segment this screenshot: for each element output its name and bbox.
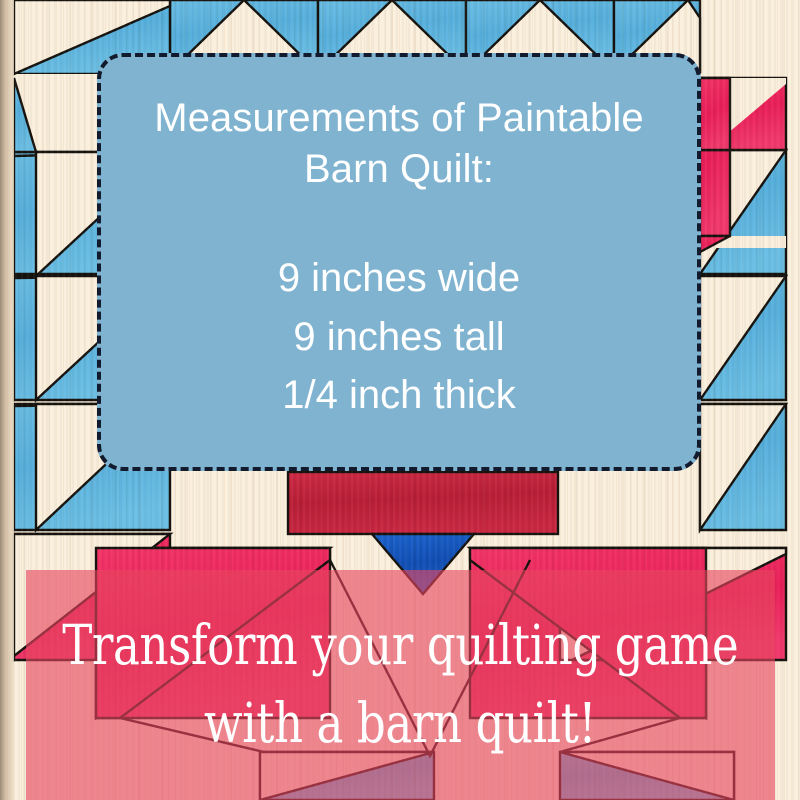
board-edge xyxy=(0,0,14,800)
measurement-height: 9 inches tall xyxy=(293,310,504,364)
promo-line-2: with a barn quilt! xyxy=(204,684,596,762)
measurements-panel: Measurements of Paintable Barn Quilt: 9 … xyxy=(97,53,701,471)
promo-banner: Transform your quilting game with a barn… xyxy=(26,570,775,800)
measurements-list: 9 inches wide 9 inches tall 1/4 inch thi… xyxy=(278,251,520,422)
measurement-thickness: 1/4 inch thick xyxy=(282,368,515,422)
promo-line-1: Transform your quilting game xyxy=(62,606,738,684)
promo-image: Measurements of Paintable Barn Quilt: 9 … xyxy=(0,0,800,800)
panel-heading: Measurements of Paintable Barn Quilt: xyxy=(129,93,669,195)
measurement-width: 9 inches wide xyxy=(278,251,520,305)
